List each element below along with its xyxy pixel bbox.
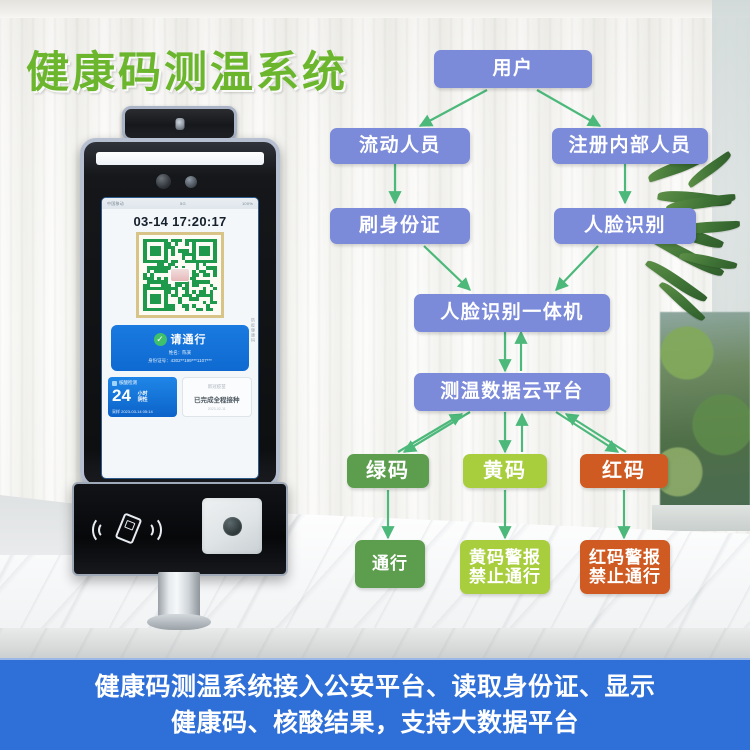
flow-node-registered-staff[interactable]: 注册内部人员 [552, 128, 708, 164]
red-alarm-line2: 禁止通行 [589, 567, 661, 586]
flow-node-red-code[interactable]: 红码 [580, 454, 668, 488]
flow-node-green-code[interactable]: 绿码 [347, 454, 429, 488]
yellow-alarm-line1: 黄码警报 [469, 548, 541, 567]
process-flowchart: 用户 流动人员 注册内部人员 刷身份证 人脸识别 人脸识别一体机 测温数据云平台… [0, 0, 750, 660]
flow-node-user[interactable]: 用户 [434, 50, 592, 88]
flow-node-visitor[interactable]: 流动人员 [330, 128, 470, 164]
flow-node-cloud-platform[interactable]: 测温数据云平台 [414, 373, 610, 411]
yellow-alarm-line2: 禁止通行 [469, 567, 541, 586]
banner-line-2: 健康码、核酸结果，支持大数据平台 [171, 705, 579, 741]
bottom-banner: 健康码测温系统接入公安平台、读取身份证、显示 健康码、核酸结果，支持大数据平台 [0, 658, 750, 750]
flow-node-yellow-alarm[interactable]: 黄码警报 禁止通行 [460, 540, 550, 594]
flow-node-pass-action[interactable]: 通行 [355, 540, 425, 588]
red-alarm-line1: 红码警报 [589, 548, 661, 567]
flow-node-terminal[interactable]: 人脸识别一体机 [414, 294, 610, 332]
flow-node-red-alarm[interactable]: 红码警报 禁止通行 [580, 540, 670, 594]
poster-canvas: 健康码测温系统 中国移动 5G 100% 03-14 17:20:17 [0, 0, 750, 750]
flow-node-id-card-scan[interactable]: 刷身份证 [330, 208, 470, 244]
flow-node-yellow-code[interactable]: 黄码 [463, 454, 547, 488]
flow-node-face-recognition[interactable]: 人脸识别 [554, 208, 696, 244]
banner-line-1: 健康码测温系统接入公安平台、读取身份证、显示 [94, 669, 655, 705]
